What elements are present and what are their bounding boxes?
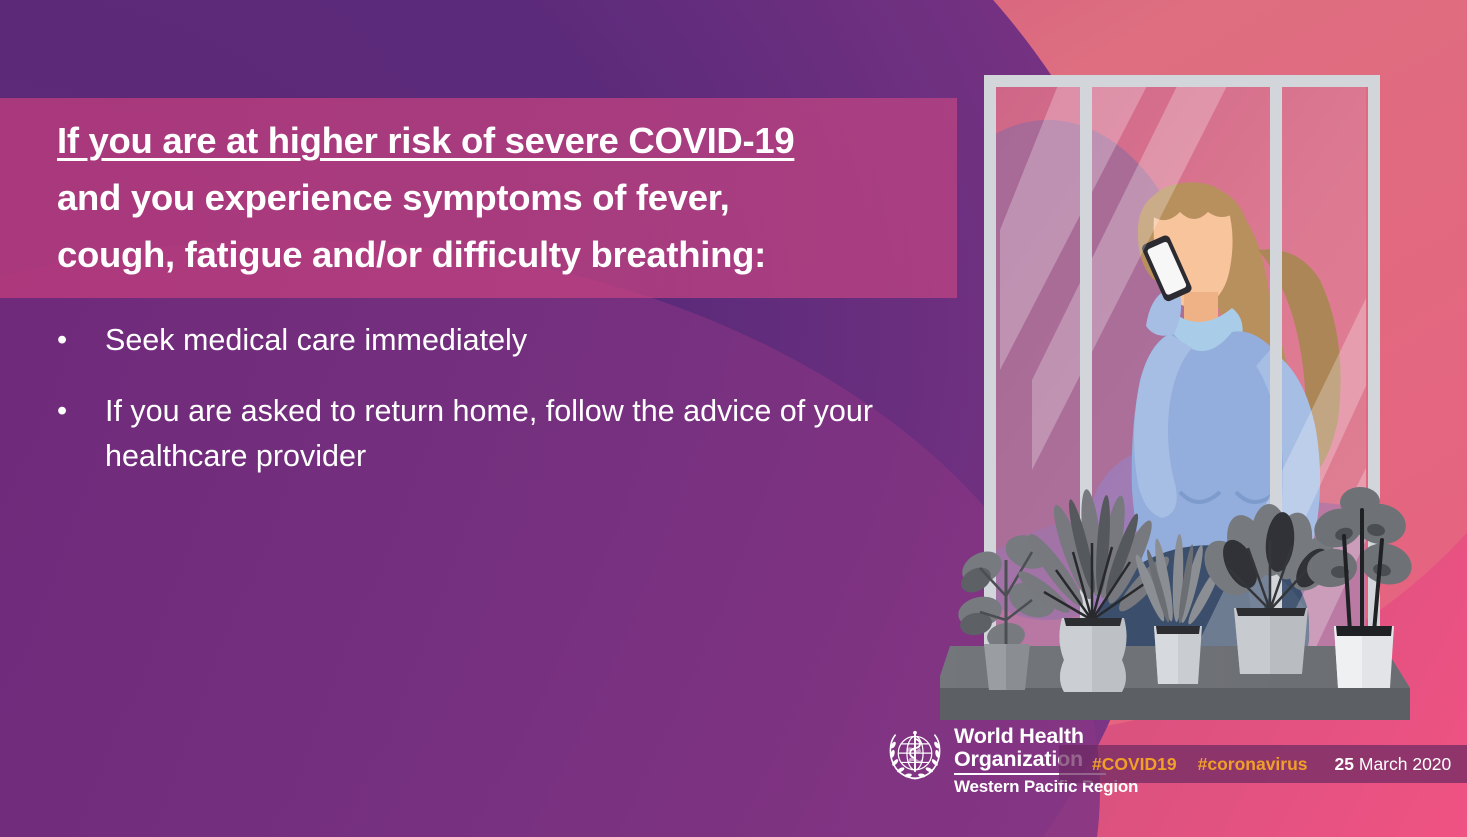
list-item: • If you are asked to return home, follo… (57, 389, 937, 479)
footer-date: 25 March 2020 (1335, 754, 1452, 775)
hashtag-covid19[interactable]: #COVID19 (1092, 754, 1177, 775)
headline-line-1: If you are at higher risk of severe COVI… (57, 112, 957, 169)
headline-banner: If you are at higher risk of severe COVI… (0, 98, 957, 298)
headline-line-3: cough, fatigue and/or difficulty breathi… (57, 226, 957, 283)
footer-tag-bar: #COVID19 #coronavirus 25 March 2020 (1059, 745, 1467, 783)
list-item: • Seek medical care immediately (57, 318, 937, 363)
footer-date-rest: March 2020 (1354, 754, 1451, 774)
who-emblem-icon (884, 724, 946, 786)
bullet-marker: • (57, 318, 105, 363)
bullet-text: Seek medical care immediately (105, 318, 527, 363)
bullet-marker: • (57, 389, 105, 479)
headline-line-2: and you experience symptoms of fever, (57, 169, 957, 226)
illustration-woman-on-phone (940, 40, 1450, 720)
hashtag-coronavirus[interactable]: #coronavirus (1198, 754, 1308, 775)
footer-date-day: 25 (1335, 754, 1354, 774)
bullet-list: • Seek medical care immediately • If you… (57, 318, 937, 505)
bullet-text: If you are asked to return home, follow … (105, 389, 937, 479)
poster-root: If you are at higher risk of severe COVI… (0, 0, 1467, 837)
